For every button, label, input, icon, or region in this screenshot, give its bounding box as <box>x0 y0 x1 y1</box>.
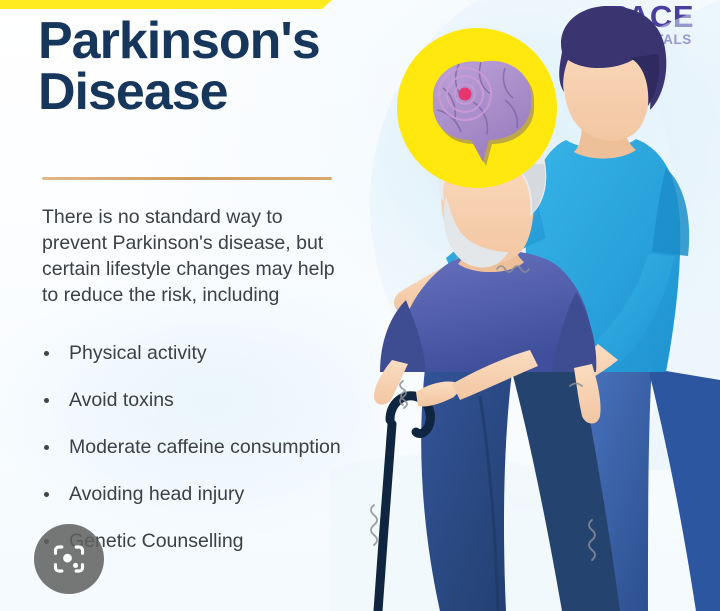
brain-badge <box>397 28 557 188</box>
list-item: Moderate caffeine consumption <box>42 435 362 460</box>
list-item: Physical activity <box>42 341 362 366</box>
list-item-label: Physical activity <box>69 341 207 366</box>
parkinsons-disease-poster: PACE HOSPITALS Parkinson's Disease There… <box>0 0 720 611</box>
google-lens-button[interactable] <box>34 524 104 594</box>
bullet-dot-icon <box>44 398 49 403</box>
google-lens-icon <box>51 541 87 577</box>
list-item-label: Avoiding head injury <box>69 482 244 507</box>
list-item: Avoiding head injury <box>42 482 362 507</box>
affected-area-dot <box>459 88 472 101</box>
list-item: Avoid toxins <box>42 388 362 413</box>
bullet-dot-icon <box>44 492 49 497</box>
title-divider <box>42 177 332 180</box>
list-item-label: Moderate caffeine consumption <box>69 435 341 460</box>
list-item-label: Avoid toxins <box>69 388 174 413</box>
brain-icon <box>413 50 543 170</box>
intro-paragraph: There is no standard way to prevent Park… <box>42 205 342 309</box>
bullet-dot-icon <box>44 351 49 356</box>
yellow-top-bar <box>0 0 332 9</box>
bullet-dot-icon <box>44 445 49 450</box>
